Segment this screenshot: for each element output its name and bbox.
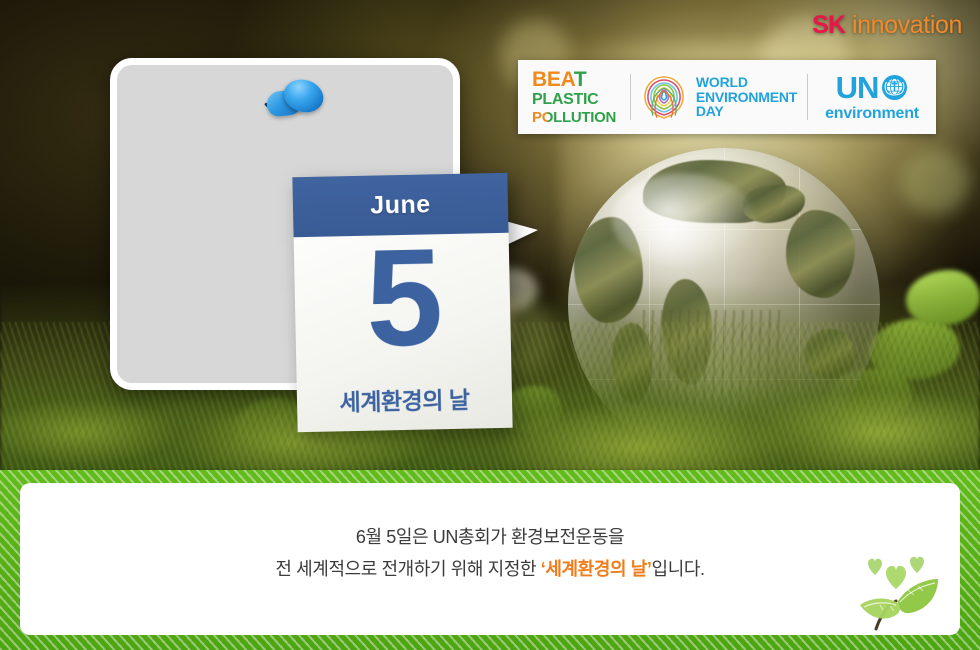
- calendar-day-number: 5: [293, 227, 511, 369]
- un-environment-logo[interactable]: UN: [808, 60, 936, 134]
- globe-highlight: [612, 173, 756, 267]
- wed-line1: WORLD: [696, 75, 797, 90]
- description-line1: 6월 5일은 UN총회가 환경보전운동을: [20, 521, 960, 553]
- wed-line3: DAY: [696, 104, 797, 119]
- beat-line3-b: O: [542, 109, 553, 126]
- description-text: 6월 5일은 UN총회가 환경보전운동을 전 세계적으로 전개하기 위해 지정한…: [20, 521, 960, 585]
- description-highlight: ‘세계환경의 날’: [541, 559, 652, 579]
- beat-line1: BEAT: [532, 69, 616, 90]
- beat-line3: POLLUTION: [532, 110, 616, 125]
- beat-plastic-pollution-logo[interactable]: BEAT PLASTIC POLLUTION: [518, 60, 630, 134]
- calendar-sheet: June 5 세계환경의 날: [292, 173, 512, 432]
- calendar-sheet-body: 5 세계환경의 날: [294, 233, 513, 432]
- bokeh-light: [900, 150, 970, 214]
- beat-line1-b: T: [574, 68, 587, 91]
- un-title: UN: [836, 72, 879, 103]
- beat-line1-a: BEA: [532, 68, 574, 91]
- description-line2-after: 입니다.: [652, 559, 705, 579]
- sk-logo-text: SK: [812, 13, 845, 38]
- description-line2-before: 전 세계적으로 전개하기 위해 지정한: [275, 559, 540, 579]
- beat-line3-c: LLUTION: [553, 109, 616, 126]
- campaign-logo-bar: BEAT PLASTIC POLLUTION: [518, 60, 936, 134]
- description-line2: 전 세계적으로 전개하기 위해 지정한 ‘세계환경의 날’입니다.: [20, 553, 960, 585]
- wed-line2: ENVIRONMENT: [696, 90, 797, 105]
- calendar-month-label: June: [370, 190, 431, 220]
- description-panel: 6월 5일은 UN총회가 환경보전운동을 전 세계적으로 전개하기 위해 지정한…: [20, 483, 960, 635]
- beat-line3-a: P: [532, 109, 542, 126]
- innovation-logo-text: innovation: [852, 13, 962, 38]
- wed-thumbprint-icon: [641, 74, 687, 120]
- calendar-caption: 세계환경의 날: [297, 380, 513, 418]
- poster-canvas: SK innovation June 5 세계환경의 날 BEAT: [0, 0, 980, 650]
- un-subtitle: environment: [825, 106, 919, 122]
- beat-line2: PLASTIC: [532, 92, 616, 108]
- un-emblem-icon: [881, 74, 908, 101]
- world-environment-day-logo[interactable]: WORLD ENVIRONMENT DAY: [631, 60, 807, 134]
- leaf-sprig-icon: [846, 545, 942, 631]
- sk-innovation-logo[interactable]: SK innovation: [812, 13, 962, 38]
